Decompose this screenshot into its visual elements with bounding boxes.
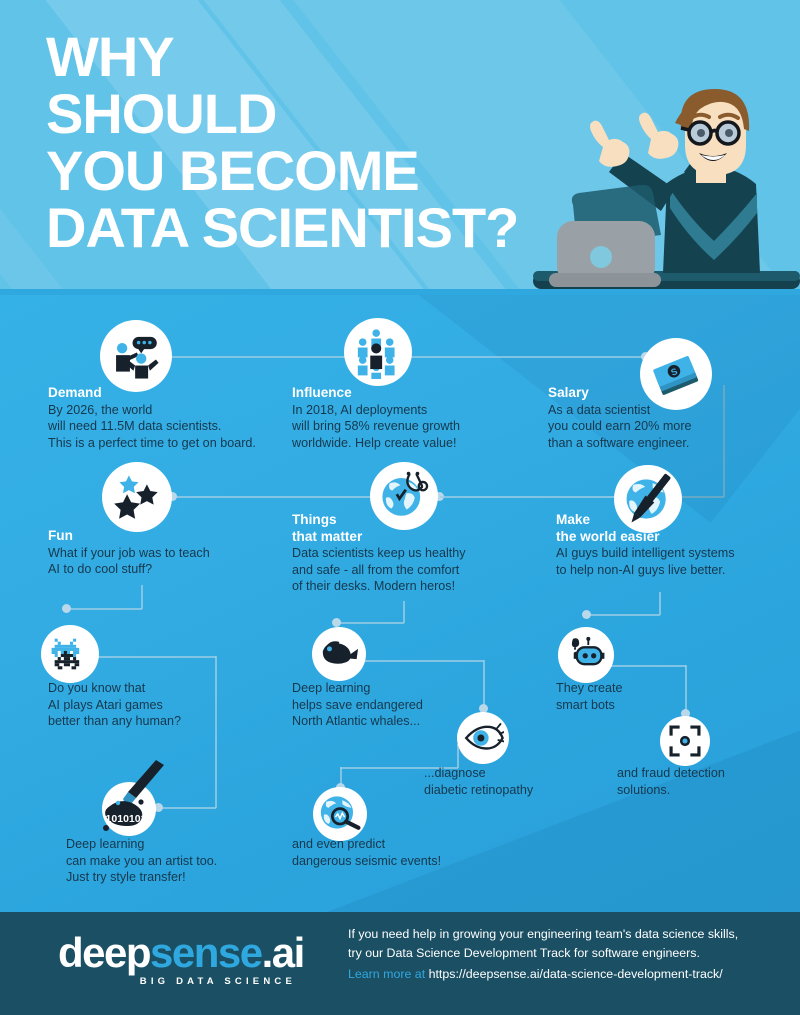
node-body: ...diagnose diabetic retinopathy (424, 765, 644, 798)
footer-link-row[interactable]: Learn more at https://deepsense.ai/data-… (348, 967, 723, 981)
node-heading: Fun (48, 528, 298, 545)
node-things-label: Things that matter Data scientists keep … (292, 512, 552, 595)
footer-link-label: Learn more at (348, 967, 425, 981)
connector-line (170, 356, 350, 358)
stars-icon (102, 462, 172, 532)
footer-promo-text: If you need help in growing your enginee… (348, 925, 768, 963)
node-atari-label: Do you know that AI plays Atari games be… (48, 680, 298, 730)
node-body: They create smart bots (556, 680, 756, 713)
footer-notch (680, 912, 800, 922)
connector-line (602, 665, 686, 667)
connector-line (403, 601, 405, 623)
eye-icon (457, 712, 509, 764)
node-body: What if your job was to teach AI to do c… (48, 545, 298, 578)
node-body: Do you know that AI plays Atari games be… (48, 680, 298, 730)
node-fun-label: Fun What if your job was to teach AI to … (48, 528, 298, 578)
node-smart-bots-label: They create smart bots (556, 680, 756, 713)
node-body: As a data scientist you could earn 20% m… (548, 402, 788, 452)
node-style-transfer-label: Deep learning can make you an artist too… (66, 836, 326, 886)
node-heading: Salary (548, 385, 788, 402)
node-body: Deep learning can make you an artist too… (66, 836, 326, 886)
connector-line (66, 608, 142, 610)
globe-magnifier-icon (313, 787, 367, 841)
footer-promo-line2: try our Data Science Development Track f… (348, 944, 768, 963)
node-demand-label: Demand By 2026, the world will need 11.5… (48, 385, 298, 451)
logo-tagline: BIG DATA SCIENCE (58, 976, 298, 987)
connector-line (141, 585, 143, 609)
node-body: Deep learning helps save endangered Nort… (292, 680, 542, 730)
logo-ai: .ai (262, 929, 304, 976)
logo-sense: sense (150, 929, 262, 976)
connector-line (215, 656, 217, 808)
connector-dot (62, 604, 71, 613)
connector-line (586, 614, 660, 616)
node-body: and even predict dangerous seismic event… (292, 836, 552, 869)
crowd-of-people-icon (344, 318, 412, 386)
robot-icon (558, 627, 614, 683)
space-invaders-icon (41, 625, 99, 683)
footer-promo-line1: If you need help in growing your enginee… (348, 925, 768, 944)
node-body: By 2026, the world will need 11.5M data … (48, 402, 298, 452)
node-heading: Make the world easier (556, 512, 800, 545)
node-body: Data scientists keep us healthy and safe… (292, 545, 552, 595)
node-body: In 2018, AI deployments will bring 58% r… (292, 402, 542, 452)
node-heading: Demand (48, 385, 298, 402)
node-influence-label: Influence In 2018, AI deployments will b… (292, 385, 542, 451)
connector-line (336, 622, 404, 624)
connector-line (90, 656, 216, 658)
paint-brush-binary-icon: 1010101 (102, 782, 156, 836)
whale-icon (312, 627, 366, 681)
connector-line (659, 592, 661, 615)
node-make-label: Make the world easier AI guys build inte… (556, 512, 800, 578)
logo-deep: deep (58, 929, 150, 976)
connector-line (356, 660, 484, 662)
focus-target-icon (660, 716, 710, 766)
footer-link-url[interactable]: https://deepsense.ai/data-science-develo… (429, 967, 723, 981)
logo-wordmark: deepsense.ai (58, 932, 298, 974)
node-whales-label: Deep learning helps save endangered Nort… (292, 680, 542, 730)
node-seismic-label: and even predict dangerous seismic event… (292, 836, 552, 869)
node-heading: Things that matter (292, 512, 552, 545)
connector-dot (582, 610, 591, 619)
node-heading: Influence (292, 385, 542, 402)
data-scientist-pointing-at-laptop-icon (515, 85, 800, 295)
node-body: and fraud detection solutions. (617, 765, 800, 798)
connector-line (440, 496, 615, 498)
infographic-poster: WHY SHOULD YOU BECOME DATA SCIENTIST? (0, 0, 800, 1015)
node-body: AI guys build intelligent systems to hel… (556, 545, 800, 578)
connector-dot (332, 618, 341, 627)
node-fraud-label: and fraud detection solutions. (617, 765, 800, 798)
connector-line (172, 496, 372, 498)
people-chat-icon (100, 320, 172, 392)
node-salary-label: Salary As a data scientist you could ear… (548, 385, 788, 451)
binary-icon-text: 1010101 (106, 813, 147, 825)
header-banner: WHY SHOULD YOU BECOME DATA SCIENTIST? (0, 0, 800, 295)
deepsense-logo[interactable]: deepsense.ai BIG DATA SCIENCE (58, 932, 298, 987)
connector-line (408, 356, 645, 358)
connector-line (158, 807, 216, 809)
node-retinopathy-label: ...diagnose diabetic retinopathy (424, 765, 644, 798)
